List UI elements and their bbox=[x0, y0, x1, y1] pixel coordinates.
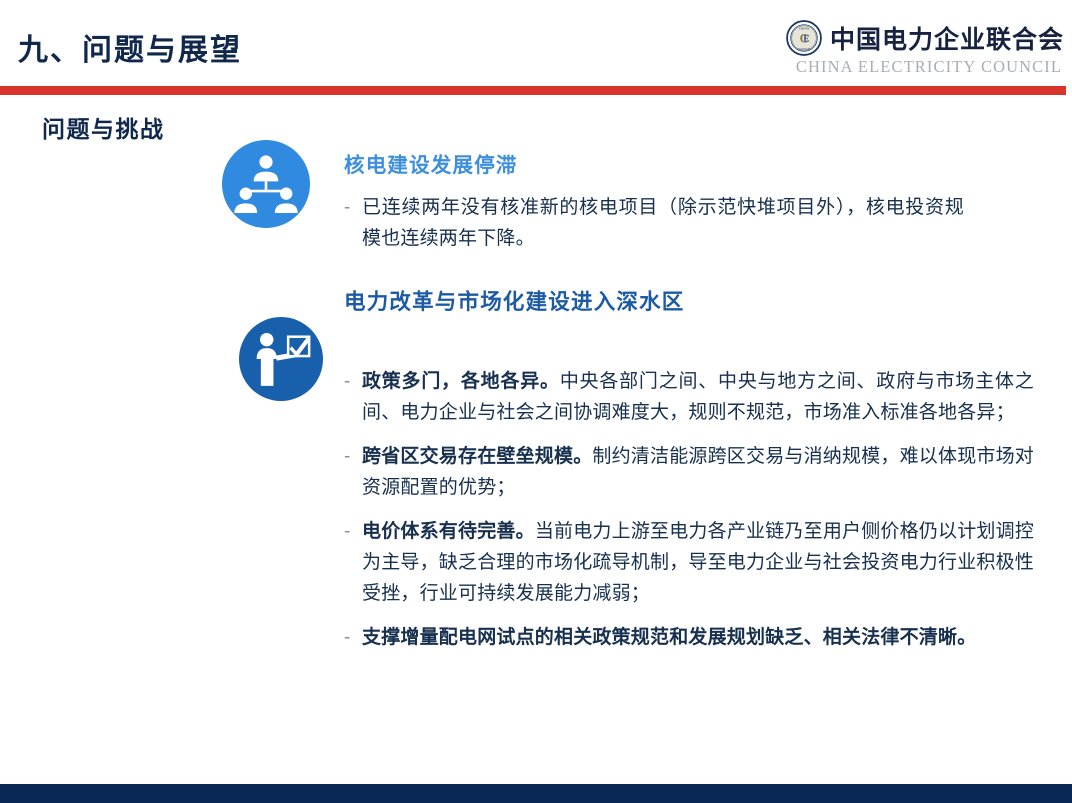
block-heading: 核电建设发展停滞 bbox=[344, 148, 964, 178]
bullet-item: - 支撑增量配电网试点的相关政策规范和发展规划缺乏、相关法律不清晰。 bbox=[344, 622, 1034, 653]
bullet-bold-lead: 政策多门，各地各异。 bbox=[362, 371, 560, 392]
block-body: 电力改革与市场化建设进入深水区 - 政策多门，各地各异。中央各部门之间、中央与地… bbox=[344, 285, 1034, 666]
team-hierarchy-icon bbox=[222, 140, 310, 228]
section-subheading: 问题与挑战 bbox=[42, 110, 165, 144]
cec-seal-icon: CHINA COUNCIL C E bbox=[786, 20, 822, 56]
svg-text:E: E bbox=[803, 35, 809, 45]
bullet-text: 支撑增量配电网试点的相关政策规范和发展规划缺乏、相关法律不清晰。 bbox=[362, 622, 1034, 653]
bullet-dash-marker: - bbox=[344, 192, 362, 223]
bullet-text: 跨省区交易存在壁垒规模。制约清洁能源跨区交易与消纳规模，难以体现市场对资源配置的… bbox=[362, 441, 1034, 503]
organization-logo: CHINA COUNCIL C E 中国电力企业联合会 CHINA ELECTR… bbox=[786, 20, 1064, 77]
bullet-item: - 电价体系有待完善。当前电力上游至电力各产业链乃至用户侧价格仍以计划调控为主导… bbox=[344, 516, 1034, 609]
bullet-text: 电价体系有待完善。当前电力上游至电力各产业链乃至用户侧价格仍以计划调控为主导，缺… bbox=[362, 516, 1034, 609]
bullet-bold-lead: 电价体系有待完善。 bbox=[362, 521, 535, 542]
svg-text:COUNCIL: COUNCIL bbox=[798, 47, 811, 51]
logo-chinese-name: 中国电力企业联合会 bbox=[830, 20, 1064, 56]
logo-english-name: CHINA ELECTRICITY COUNCIL bbox=[796, 57, 1062, 77]
presenter-checklist-icon bbox=[239, 317, 323, 401]
bullet-bold-lead: 支撑增量配电网试点的相关政策规范和发展规划缺乏、相关法律不清晰。 bbox=[362, 627, 976, 648]
logo-row: CHINA COUNCIL C E 中国电力企业联合会 bbox=[786, 20, 1064, 56]
bullet-dash-marker: - bbox=[344, 622, 362, 653]
block-body: 核电建设发展停滞 - 已连续两年没有核准新的核电项目（除示范快堆项目外），核电投… bbox=[344, 148, 964, 267]
bullet-dash-marker: - bbox=[344, 366, 362, 397]
block-heading: 电力改革与市场化建设进入深水区 bbox=[344, 285, 1034, 316]
bullet-item: - 跨省区交易存在壁垒规模。制约清洁能源跨区交易与消纳规模，难以体现市场对资源配… bbox=[344, 441, 1034, 503]
bullet-item: - 已连续两年没有核准新的核电项目（除示范快堆项目外），核电投资规模也连续两年下… bbox=[344, 192, 964, 254]
bullet-text: 政策多门，各地各异。中央各部门之间、中央与地方之间、政府与市场主体之间、电力企业… bbox=[362, 366, 1034, 428]
slide-canvas: 九、问题与展望 CHINA COUNCIL C E 中国电力企业联合会 CHIN… bbox=[0, 0, 1072, 803]
bullet-item: - 政策多门，各地各异。中央各部门之间、中央与地方之间、政府与市场主体之间、电力… bbox=[344, 366, 1034, 428]
bullet-text: 已连续两年没有核准新的核电项目（除示范快堆项目外），核电投资规模也连续两年下降。 bbox=[362, 192, 964, 254]
header-divider-bar bbox=[0, 86, 1066, 95]
footer-bar bbox=[0, 784, 1072, 803]
page-title: 九、问题与展望 bbox=[18, 25, 242, 69]
bullet-bold-lead: 跨省区交易存在壁垒规模。 bbox=[362, 446, 592, 467]
bullet-dash-marker: - bbox=[344, 516, 362, 547]
bullet-dash-marker: - bbox=[344, 441, 362, 472]
svg-text:CHINA: CHINA bbox=[799, 26, 810, 30]
